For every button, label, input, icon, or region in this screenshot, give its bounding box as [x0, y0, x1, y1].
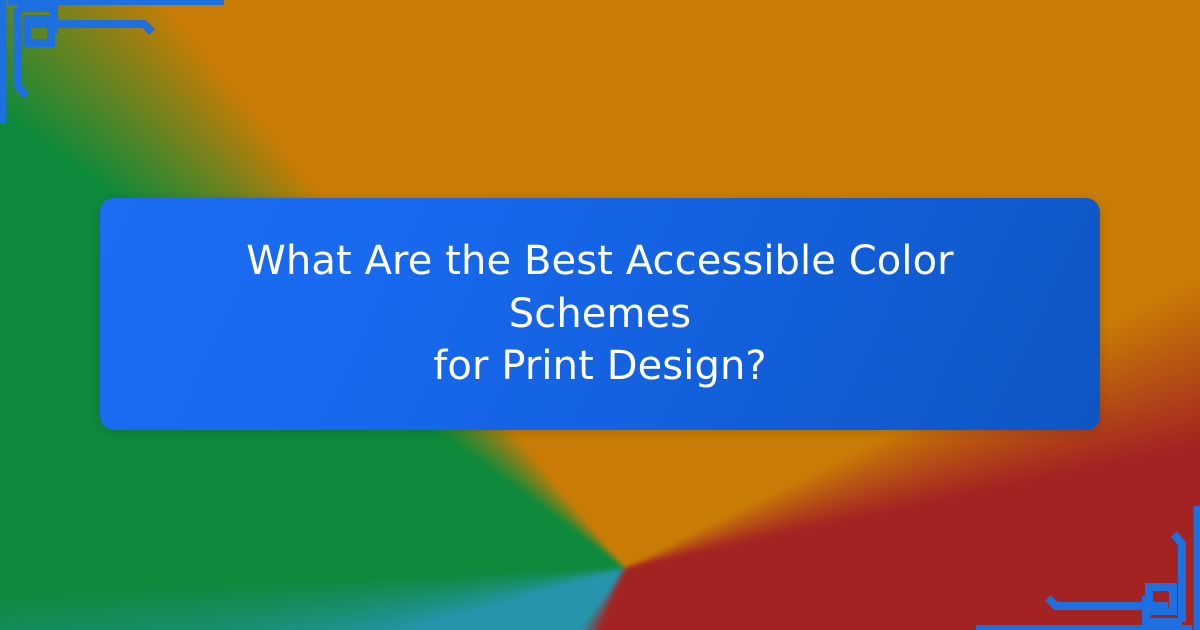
page-title-line-2: for Print Design? — [433, 343, 766, 389]
page-title: What Are the Best Accessible Color Schem… — [220, 235, 980, 393]
poster-canvas: What Are the Best Accessible Color Schem… — [0, 0, 1200, 630]
title-banner: What Are the Best Accessible Color Schem… — [100, 198, 1100, 430]
page-title-line-1: What Are the Best Accessible Color Schem… — [246, 238, 953, 337]
